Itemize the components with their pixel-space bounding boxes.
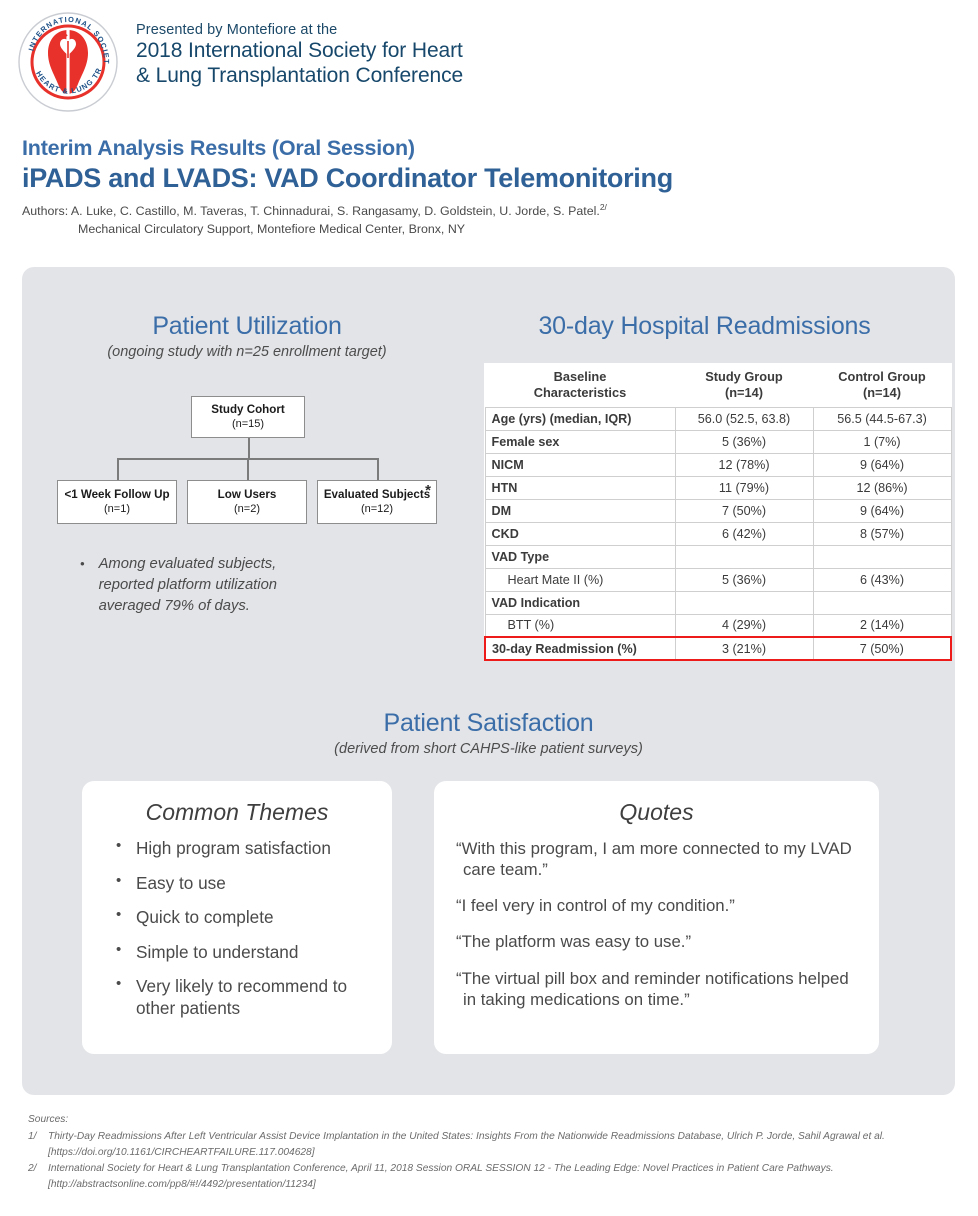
row-control-group-value: 1 (7%) bbox=[813, 430, 951, 453]
table-row: HTN11 (79%)12 (86%) bbox=[485, 476, 951, 499]
flow-node-low-users-count: (n=2) bbox=[234, 502, 260, 517]
common-themes-title: Common Themes bbox=[104, 799, 370, 826]
bullet-icon: • bbox=[80, 554, 85, 617]
header-conference-line-2: & Lung Transplantation Conference bbox=[136, 64, 463, 89]
list-item: “I feel very in control of my condition.… bbox=[456, 895, 857, 916]
table-row: Age (yrs) (median, IQR)56.0 (52.5, 63.8)… bbox=[485, 407, 951, 430]
list-item: Quick to complete bbox=[116, 907, 370, 929]
ishlt-logo-icon: INTERNATIONAL SOCIETY FOR HEART & LUNG T… bbox=[16, 10, 120, 114]
column-header-study-group-line2: (n=14) bbox=[681, 385, 807, 401]
column-header-study-group-line1: Study Group bbox=[681, 369, 807, 385]
section-patient-utilization: Patient Utilization (ongoing study with … bbox=[32, 312, 462, 617]
utilization-subheading: (ongoing study with n=25 enrollment targ… bbox=[32, 344, 462, 360]
row-study-group-value bbox=[675, 591, 813, 614]
readmissions-heading: 30-day Hospital Readmissions bbox=[462, 312, 947, 341]
table-row: Heart Mate II (%)5 (36%)6 (43%) bbox=[485, 568, 951, 591]
quotes-list: “With this program, I am more connected … bbox=[456, 838, 857, 1010]
sources-footer: Sources: 1/Thirty-Day Readmissions After… bbox=[28, 1112, 958, 1193]
utilization-heading: Patient Utilization bbox=[32, 312, 462, 341]
sources-list: 1/Thirty-Day Readmissions After Left Ven… bbox=[28, 1129, 958, 1193]
common-themes-list: High program satisfactionEasy to useQuic… bbox=[104, 838, 370, 1019]
row-label: NICM bbox=[485, 453, 675, 476]
authors-block: Authors: A. Luke, C. Castillo, M. Tavera… bbox=[22, 201, 952, 239]
utilization-note-text: Among evaluated subjects, reported platf… bbox=[99, 554, 329, 617]
asterisk-icon: * bbox=[425, 483, 431, 498]
row-control-group-value: 7 (50%) bbox=[813, 637, 951, 660]
content-panel: Patient Utilization (ongoing study with … bbox=[22, 267, 955, 1095]
authors-reference-marker: 2/ bbox=[600, 202, 607, 212]
authors-affiliation: Mechanical Circulatory Support, Montefio… bbox=[78, 221, 952, 239]
row-label: VAD Type bbox=[485, 545, 675, 568]
table-row: VAD Indication bbox=[485, 591, 951, 614]
row-study-group-value: 12 (78%) bbox=[675, 453, 813, 476]
row-control-group-value: 9 (64%) bbox=[813, 499, 951, 522]
table-header-row: Baseline Characteristics Study Group (n=… bbox=[485, 363, 951, 407]
list-item: Simple to understand bbox=[116, 942, 370, 964]
column-header-characteristics-line2: Characteristics bbox=[491, 385, 669, 401]
row-study-group-value: 56.0 (52.5, 63.8) bbox=[675, 407, 813, 430]
poster-header: INTERNATIONAL SOCIETY FOR HEART & LUNG T… bbox=[0, 0, 978, 120]
source-text: International Society for Heart & Lung T… bbox=[48, 1161, 958, 1193]
row-control-group-value: 9 (64%) bbox=[813, 453, 951, 476]
row-control-group-value: 56.5 (44.5-67.3) bbox=[813, 407, 951, 430]
row-study-group-value: 4 (29%) bbox=[675, 614, 813, 637]
row-control-group-value: 2 (14%) bbox=[813, 614, 951, 637]
table-row: VAD Type bbox=[485, 545, 951, 568]
flow-connector-branch-1 bbox=[117, 458, 119, 480]
row-control-group-value bbox=[813, 591, 951, 614]
row-control-group-value bbox=[813, 545, 951, 568]
study-cohort-flowchart: Study Cohort (n=15) <1 Week Follow Up (n… bbox=[57, 396, 437, 516]
flow-node-evaluated-subjects-label: Evaluated Subjects bbox=[324, 487, 430, 503]
flow-node-evaluated-subjects: * Evaluated Subjects (n=12) bbox=[317, 480, 437, 524]
row-label: VAD Indication bbox=[485, 591, 675, 614]
source-number: 1/ bbox=[28, 1129, 48, 1161]
flow-connector-root-down bbox=[248, 438, 250, 458]
list-item: Very likely to recommend to other patien… bbox=[116, 976, 370, 1019]
satisfaction-heading: Patient Satisfaction bbox=[22, 709, 955, 738]
row-study-group-value: 5 (36%) bbox=[675, 568, 813, 591]
table-row: DM7 (50%)9 (64%) bbox=[485, 499, 951, 522]
authors-label: Authors: bbox=[22, 203, 68, 221]
flow-node-study-cohort-label: Study Cohort bbox=[211, 402, 284, 418]
row-label: DM bbox=[485, 499, 675, 522]
row-control-group-value: 6 (43%) bbox=[813, 568, 951, 591]
table-row: BTT (%)4 (29%)2 (14%) bbox=[485, 614, 951, 637]
list-item: “The platform was easy to use.” bbox=[456, 931, 857, 952]
source-text: Thirty-Day Readmissions After Left Ventr… bbox=[48, 1129, 958, 1161]
list-item: “With this program, I am more connected … bbox=[456, 838, 857, 880]
eyebrow-title: Interim Analysis Results (Oral Session) bbox=[22, 136, 952, 161]
row-label: CKD bbox=[485, 522, 675, 545]
flow-connector-branch-3 bbox=[377, 458, 379, 480]
quotes-card: Quotes “With this program, I am more con… bbox=[434, 781, 879, 1054]
column-header-study-group: Study Group (n=14) bbox=[675, 363, 813, 407]
table-row: Female sex5 (36%)1 (7%) bbox=[485, 430, 951, 453]
column-header-characteristics: Baseline Characteristics bbox=[485, 363, 675, 407]
title-block: Interim Analysis Results (Oral Session) … bbox=[22, 136, 952, 239]
list-item: Easy to use bbox=[116, 873, 370, 895]
header-presented-by: Presented by Montefiore at the bbox=[136, 22, 463, 39]
table-row: NICM12 (78%)9 (64%) bbox=[485, 453, 951, 476]
sources-label: Sources: bbox=[28, 1112, 958, 1128]
quotes-title: Quotes bbox=[456, 799, 857, 826]
row-study-group-value: 6 (42%) bbox=[675, 522, 813, 545]
row-label: 30-day Readmission (%) bbox=[485, 637, 675, 660]
list-item: High program satisfaction bbox=[116, 838, 370, 860]
flow-node-study-cohort: Study Cohort (n=15) bbox=[191, 396, 305, 438]
row-label: Age (yrs) (median, IQR) bbox=[485, 407, 675, 430]
column-header-control-group-line2: (n=14) bbox=[819, 385, 945, 401]
utilization-note: • Among evaluated subjects, reported pla… bbox=[80, 554, 462, 617]
table-row: CKD6 (42%)8 (57%) bbox=[485, 522, 951, 545]
section-patient-satisfaction: Patient Satisfaction (derived from short… bbox=[22, 709, 955, 1054]
column-header-control-group: Control Group (n=14) bbox=[813, 363, 951, 407]
row-label: Heart Mate II (%) bbox=[485, 568, 675, 591]
table-body: Age (yrs) (median, IQR)56.0 (52.5, 63.8)… bbox=[485, 407, 951, 660]
column-header-control-group-line1: Control Group bbox=[819, 369, 945, 385]
row-study-group-value: 11 (79%) bbox=[675, 476, 813, 499]
row-label: Female sex bbox=[485, 430, 675, 453]
flow-node-low-users-label: Low Users bbox=[218, 487, 277, 503]
section-readmissions: 30-day Hospital Readmissions Baseline Ch… bbox=[462, 312, 947, 661]
row-label: BTT (%) bbox=[485, 614, 675, 637]
page-title: iPADS and LVADS: VAD Coordinator Telemon… bbox=[22, 163, 952, 194]
flow-node-one-week-followup-label: <1 Week Follow Up bbox=[64, 487, 169, 503]
column-header-characteristics-line1: Baseline bbox=[491, 369, 669, 385]
authors-names: A. Luke, C. Castillo, M. Taveras, T. Chi… bbox=[71, 204, 600, 218]
satisfaction-subheading: (derived from short CAHPS-like patient s… bbox=[22, 741, 955, 757]
row-study-group-value: 3 (21%) bbox=[675, 637, 813, 660]
source-entry: 1/Thirty-Day Readmissions After Left Ven… bbox=[28, 1129, 958, 1161]
row-control-group-value: 12 (86%) bbox=[813, 476, 951, 499]
row-study-group-value: 5 (36%) bbox=[675, 430, 813, 453]
source-number: 2/ bbox=[28, 1161, 48, 1193]
flow-node-low-users: Low Users (n=2) bbox=[187, 480, 307, 524]
row-study-group-value: 7 (50%) bbox=[675, 499, 813, 522]
readmissions-table: Baseline Characteristics Study Group (n=… bbox=[484, 363, 952, 661]
flow-node-one-week-followup-count: (n=1) bbox=[104, 502, 130, 517]
flow-node-one-week-followup: <1 Week Follow Up (n=1) bbox=[57, 480, 177, 524]
row-label: HTN bbox=[485, 476, 675, 499]
list-item: “The virtual pill box and reminder notif… bbox=[456, 968, 857, 1010]
source-entry: 2/International Society for Heart & Lung… bbox=[28, 1161, 958, 1193]
header-conference-line-1: 2018 International Society for Heart bbox=[136, 39, 463, 64]
row-control-group-value: 8 (57%) bbox=[813, 522, 951, 545]
flow-node-evaluated-subjects-count: (n=12) bbox=[361, 502, 393, 517]
flow-node-study-cohort-count: (n=15) bbox=[232, 417, 264, 432]
flow-connector-branch-2 bbox=[247, 458, 249, 480]
table-row: 30-day Readmission (%)3 (21%)7 (50%) bbox=[485, 637, 951, 660]
row-study-group-value bbox=[675, 545, 813, 568]
common-themes-card: Common Themes High program satisfactionE… bbox=[82, 781, 392, 1054]
